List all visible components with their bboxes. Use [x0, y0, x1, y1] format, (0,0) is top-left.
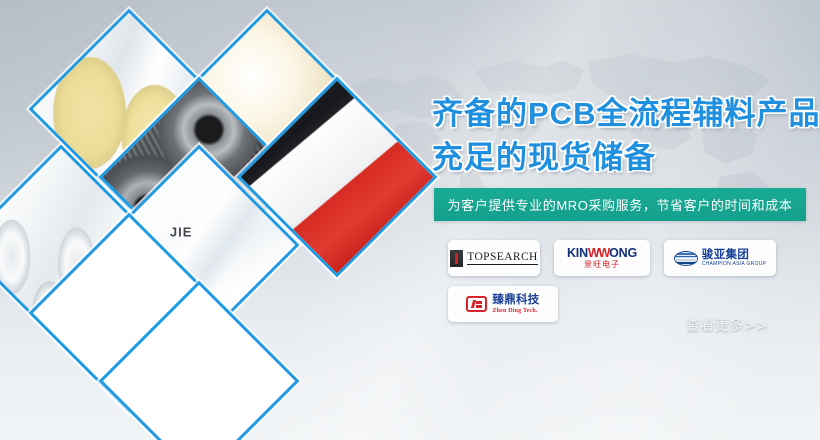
- kinwong-label-cn: 景旺电子: [567, 261, 637, 269]
- logo-kinwong[interactable]: KINWWONG 景旺电子: [554, 240, 650, 276]
- logo-champion-asia[interactable]: 骏亚集团 CHAMPION ASIA GROUP: [664, 240, 776, 276]
- champion-asia-label-cn: 骏亚集团: [702, 249, 767, 261]
- tile-navy-sheet-lower: [99, 281, 300, 440]
- logo-topsearch[interactable]: TOPSEARCH: [448, 240, 540, 276]
- tile-peel-film: JIE: [99, 145, 300, 346]
- product-photo-mosaic: JIE: [0, 0, 406, 440]
- tile-color-sheets: [237, 77, 438, 278]
- tile-navy-sheet: [29, 213, 230, 414]
- subtitle-bar: 为客户提供专业的MRO采购服务，节省客户的时间和成本: [434, 188, 806, 221]
- logo-zhen-ding[interactable]: 臻鼎科技 Zhen Ding Tech.: [448, 286, 558, 322]
- globe-icon: [674, 251, 698, 266]
- logo-row-1: TOPSEARCH KINWWONG 景旺电子 骏亚集团 CHAMPION AS…: [448, 240, 796, 276]
- tile-film-label: JIE: [170, 225, 193, 240]
- topsearch-mark-icon: [450, 250, 463, 267]
- zhen-ding-mark-icon: [466, 296, 487, 312]
- tile-film-rolls: [0, 145, 161, 346]
- topsearch-label: TOPSEARCH: [467, 251, 538, 265]
- tile-nylon-rollers: [167, 9, 368, 210]
- zhen-ding-label-en: Zhen Ding Tech.: [492, 308, 539, 314]
- tile-tape-rolls: [29, 9, 230, 210]
- kinwong-label-en: KINWWONG: [567, 247, 637, 260]
- headline-line-1: 齐备的PCB全流程辅料产品、: [432, 92, 812, 136]
- headline-line-2: 充足的现货储备: [432, 136, 812, 180]
- subtitle-text: 为客户提供专业的MRO采购服务，节省客户的时间和成本: [448, 195, 793, 214]
- view-more-link[interactable]: 查看更多>>: [686, 315, 768, 335]
- zhen-ding-label-cn: 臻鼎科技: [492, 294, 539, 306]
- headline: 齐备的PCB全流程辅料产品、 充足的现货储备: [432, 92, 812, 180]
- champion-asia-label-en: CHAMPION ASIA GROUP: [702, 262, 767, 267]
- tile-abrasive-rolls: [99, 77, 300, 278]
- promo-banner: JIE 齐备的PCB全流程辅料产品、 充足的现货储备 为客户提供专业的MRO采购…: [0, 0, 820, 440]
